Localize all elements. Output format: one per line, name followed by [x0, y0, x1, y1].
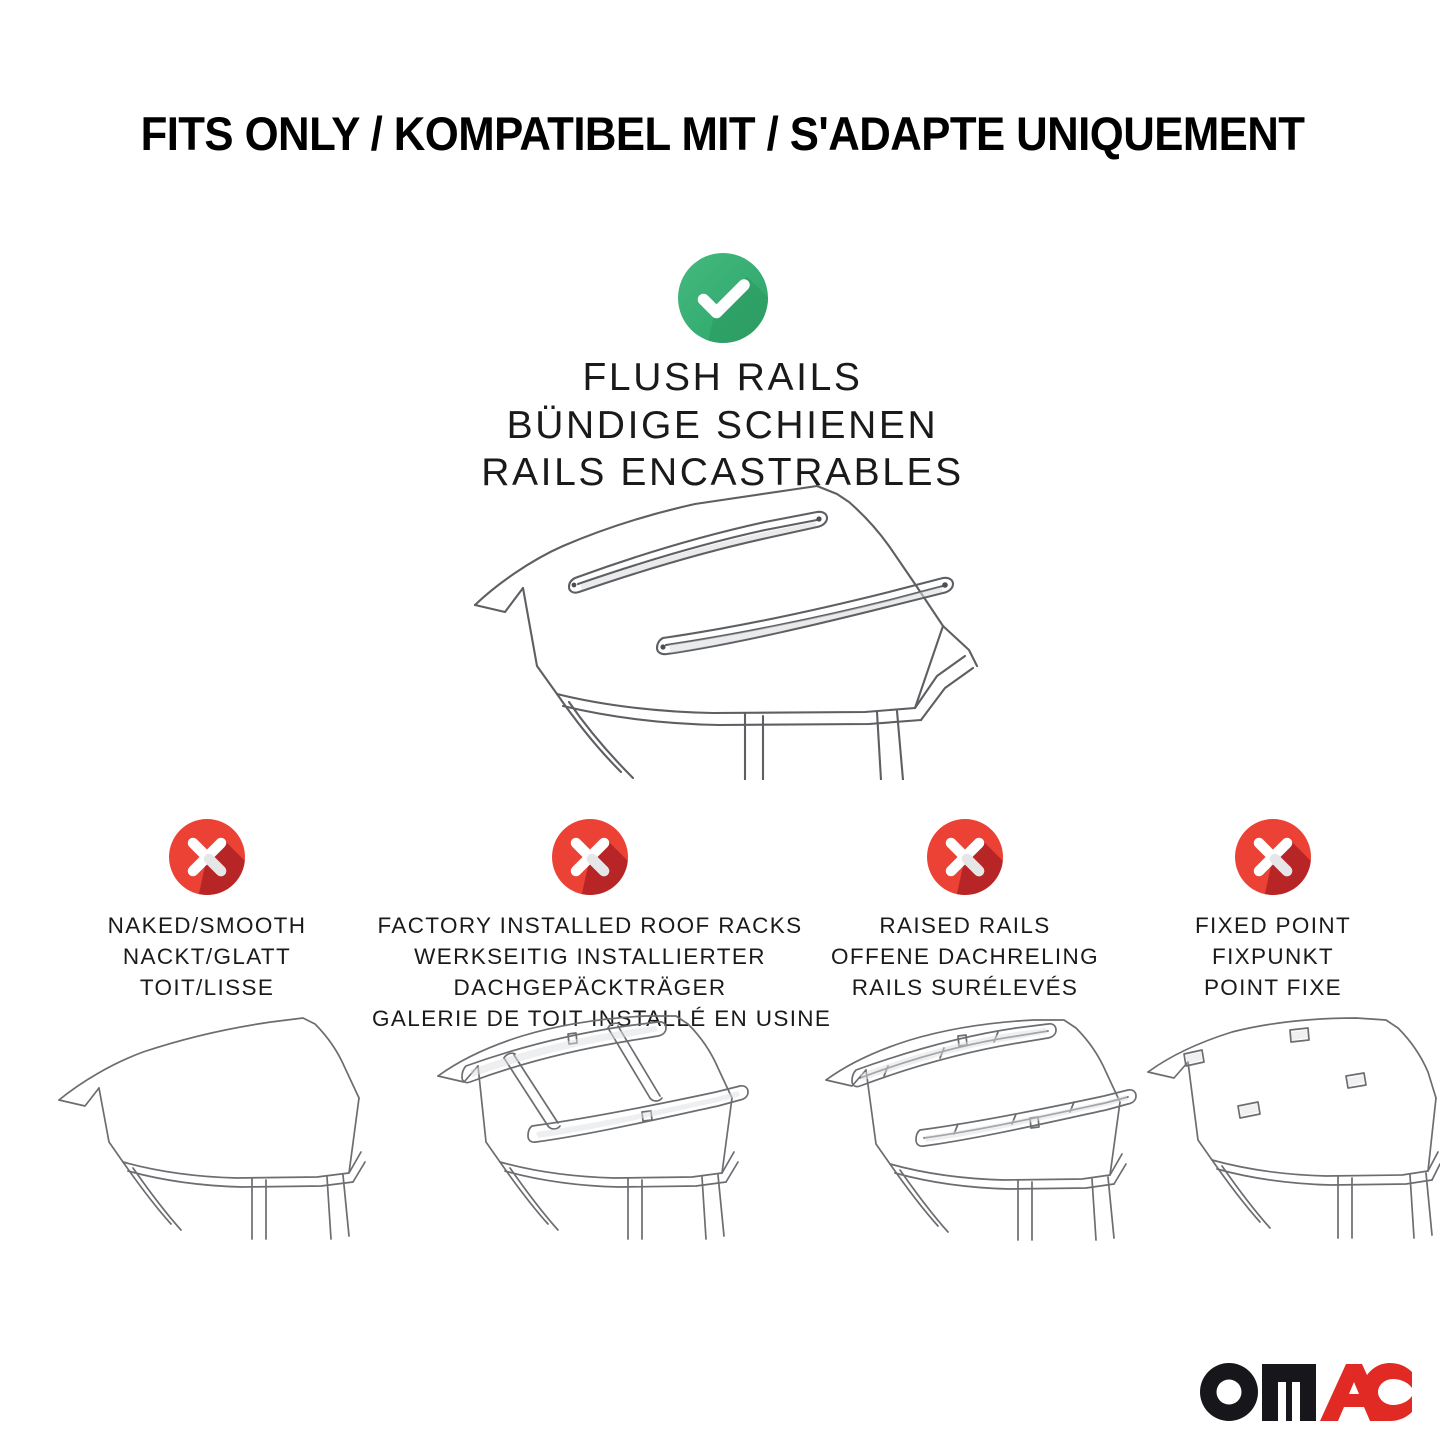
- incompatible-labels-3: FIXED POINT FIXPUNKT POINT FIXE: [1140, 910, 1406, 1003]
- label-line: FIXED POINT: [1140, 910, 1406, 941]
- x-badge-wrap-2: [812, 818, 1118, 910]
- compatible-badge-wrap: [0, 252, 1445, 348]
- incompatible-item-naked-smooth: NAKED/SMOOTH NACKT/GLATT TOIT/LISSE: [40, 818, 374, 1003]
- x-circle-icon: [168, 818, 246, 896]
- car-roof-with-flush-rails-illustration: [445, 480, 1015, 780]
- label-line: POINT FIXE: [1140, 972, 1406, 1003]
- label-line: DACHGEPÄCKTRÄGER: [372, 972, 808, 1003]
- label-line: FIXPUNKT: [1140, 941, 1406, 972]
- x-circle-icon: [551, 818, 629, 896]
- label-line: RAILS SURÉLEVÉS: [812, 972, 1118, 1003]
- car-roof-naked-smooth-illustration: [40, 1014, 374, 1244]
- label-line: NAKED/SMOOTH: [40, 910, 374, 941]
- car-roof-raised-rails-illustration: [812, 1014, 1118, 1244]
- x-circle-icon: [926, 818, 1004, 896]
- incompatible-labels-0: NAKED/SMOOTH NACKT/GLATT TOIT/LISSE: [40, 910, 374, 1003]
- label-line: WERKSEITIG INSTALLIERTER: [372, 941, 808, 972]
- label-line: RAISED RAILS: [812, 910, 1118, 941]
- compatible-label-en: FLUSH RAILS: [0, 354, 1445, 402]
- x-badge-wrap-0: [40, 818, 374, 910]
- label-line: OFFENE DACHRELING: [812, 941, 1118, 972]
- x-badge-wrap-3: [1140, 818, 1406, 910]
- incompatible-item-raised-rails: RAISED RAILS OFFENE DACHRELING RAILS SUR…: [812, 818, 1118, 1003]
- x-badge-wrap-1: [372, 818, 808, 910]
- incompatible-labels-2: RAISED RAILS OFFENE DACHRELING RAILS SUR…: [812, 910, 1118, 1003]
- page-title: FITS ONLY / KOMPATIBEL MIT / S'ADAPTE UN…: [51, 106, 1395, 161]
- label-line: NACKT/GLATT: [40, 941, 374, 972]
- incompatible-section: NAKED/SMOOTH NACKT/GLATT TOIT/LISSE: [0, 818, 1445, 1288]
- x-circle-icon: [1234, 818, 1312, 896]
- incompatible-item-factory-roof-rack: FACTORY INSTALLED ROOF RACKS WERKSEITIG …: [372, 818, 808, 1034]
- compatible-section: FLUSH RAILS BÜNDIGE SCHIENEN RAILS ENCAS…: [0, 252, 1445, 497]
- compatible-label-de: BÜNDIGE SCHIENEN: [0, 402, 1445, 450]
- car-roof-factory-roof-rack-illustration: [372, 1014, 808, 1244]
- omac-logo: [1196, 1352, 1412, 1426]
- check-circle-icon: [677, 252, 769, 344]
- car-roof-fixed-point-illustration: [1140, 1014, 1406, 1244]
- label-line: FACTORY INSTALLED ROOF RACKS: [372, 910, 808, 941]
- incompatible-item-fixed-point: FIXED POINT FIXPUNKT POINT FIXE: [1140, 818, 1406, 1003]
- label-line: TOIT/LISSE: [40, 972, 374, 1003]
- compatible-labels: FLUSH RAILS BÜNDIGE SCHIENEN RAILS ENCAS…: [0, 354, 1445, 497]
